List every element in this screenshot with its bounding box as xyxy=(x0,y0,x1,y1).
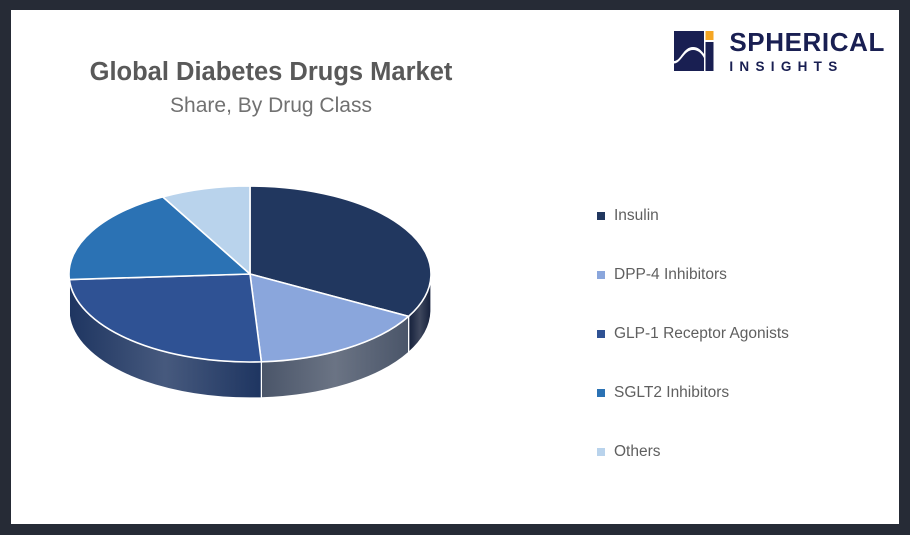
legend-item-glp1-receptor-agonists[interactable]: GLP-1 Receptor Agonists xyxy=(597,304,887,363)
legend-swatch-icon xyxy=(597,448,605,456)
chart-screenshot: SPHERICAL INSIGHTS Global Diabetes Drugs… xyxy=(0,0,910,535)
legend-item-sglt2-inhibitors[interactable]: SGLT2 Inhibitors xyxy=(597,363,887,422)
legend-label: DPP-4 Inhibitors xyxy=(614,266,727,284)
legend-label: SGLT2 Inhibitors xyxy=(614,384,729,402)
legend-swatch-icon xyxy=(597,212,605,220)
chart-subtitle: Share, By Drug Class xyxy=(11,94,531,118)
chart-canvas: SPHERICAL INSIGHTS Global Diabetes Drugs… xyxy=(11,10,899,524)
logo-primary-text: SPHERICAL xyxy=(729,29,885,55)
legend-swatch-icon xyxy=(597,330,605,338)
legend-label: Others xyxy=(614,443,661,461)
chart-legend: Insulin DPP-4 Inhibitors GLP-1 Receptor … xyxy=(597,186,887,481)
pie-chart-svg xyxy=(51,160,491,440)
legend-item-dpp4-inhibitors[interactable]: DPP-4 Inhibitors xyxy=(597,245,887,304)
logo-secondary-text: INSIGHTS xyxy=(729,60,885,74)
legend-label: Insulin xyxy=(614,207,659,225)
legend-item-others[interactable]: Others xyxy=(597,422,887,481)
chart-title: Global Diabetes Drugs Market xyxy=(11,58,531,87)
legend-swatch-icon xyxy=(597,389,605,397)
legend-label: GLP-1 Receptor Agonists xyxy=(614,325,789,343)
legend-item-insulin[interactable]: Insulin xyxy=(597,186,887,245)
legend-swatch-icon xyxy=(597,271,605,279)
pie-chart xyxy=(51,160,491,440)
logo-mark-icon xyxy=(674,29,720,73)
logo-wordmark: SPHERICAL INSIGHTS xyxy=(729,29,885,74)
spherical-insights-logo: SPHERICAL INSIGHTS xyxy=(674,28,885,74)
title-block: Global Diabetes Drugs Market Share, By D… xyxy=(11,58,531,118)
pie-top-faces xyxy=(69,186,431,362)
